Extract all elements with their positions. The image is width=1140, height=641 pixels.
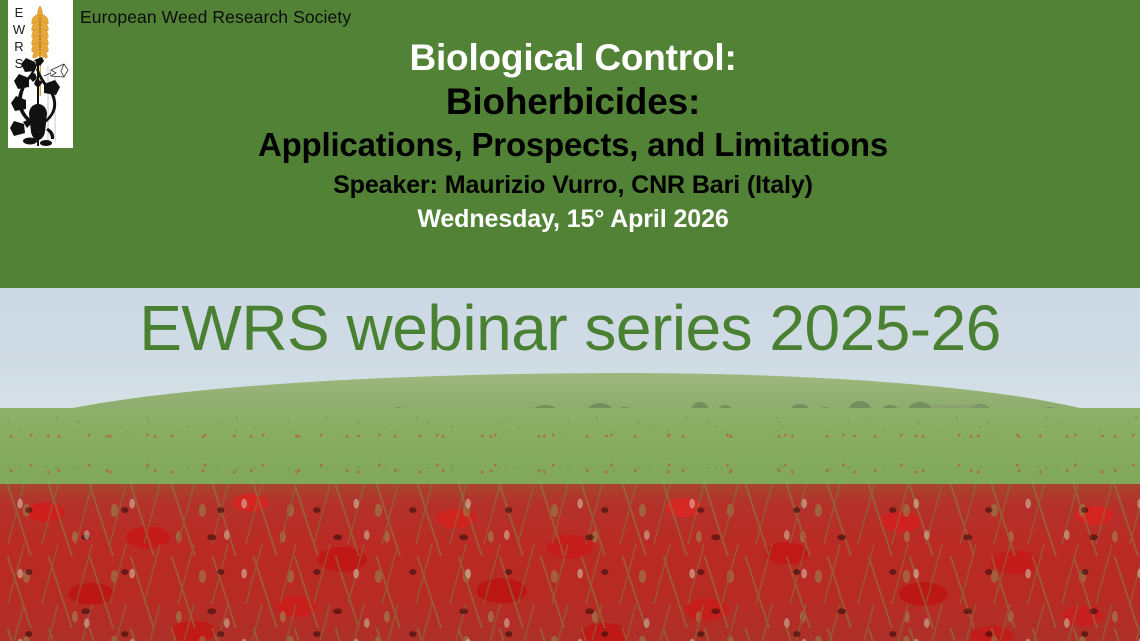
poppy-buds-texture <box>0 484 1140 641</box>
society-name: European Weed Research Society <box>80 7 351 28</box>
logo-letter-r: R <box>14 40 23 53</box>
ewrs-logo: E W R S <box>8 0 73 148</box>
title-line-3: Applications, Prospects, and Limitations <box>73 123 1073 168</box>
title-block: Biological Control: Bioherbicides: Appli… <box>73 36 1073 237</box>
webinar-series-title: EWRS webinar series 2025-26 <box>0 291 1140 365</box>
logo-letter-e: E <box>15 6 24 19</box>
header-banner: E W R S European Weed Research Society B… <box>0 0 1140 288</box>
logo-letter-w: W <box>13 23 25 36</box>
speaker-line: Speaker: Maurizio Vurro, CNR Bari (Italy… <box>73 168 1073 203</box>
logo-letter-s: S <box>15 57 24 70</box>
date-line: Wednesday, 15° April 2026 <box>73 202 1073 237</box>
webinar-announcement-slide: E W R S European Weed Research Society B… <box>0 0 1140 641</box>
title-line-1: Biological Control: <box>73 36 1073 80</box>
title-line-2: Bioherbicides: <box>73 80 1073 124</box>
ewrs-logo-letters: E W R S <box>11 6 27 74</box>
